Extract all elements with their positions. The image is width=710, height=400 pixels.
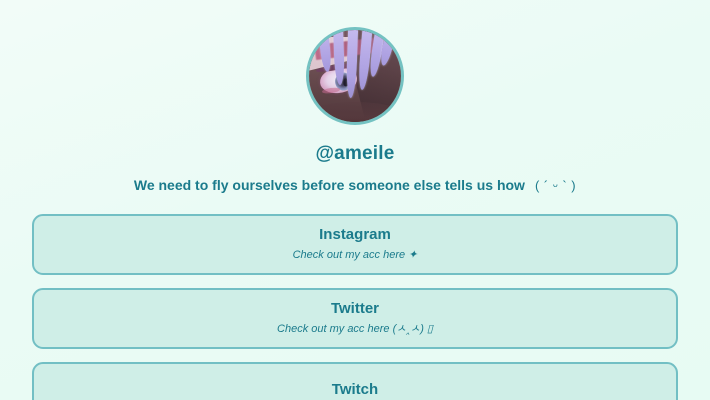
link-subtitle: Check out my acc here ✦ bbox=[293, 249, 418, 262]
profile-username: @ameile bbox=[315, 143, 394, 165]
linktree-profile-page: @ameile We need to fly ourselves before … bbox=[0, 0, 710, 400]
link-subtitle: Check out my acc here (ㅅ‸ㅅ) ▯ bbox=[277, 323, 433, 336]
link-card-twitch[interactable]: Twitch bbox=[32, 362, 678, 400]
link-list: Instagram Check out my acc here ✦ Twitte… bbox=[32, 214, 678, 400]
link-title: Instagram bbox=[319, 226, 391, 244]
link-card-twitter[interactable]: Twitter Check out my acc here (ㅅ‸ㅅ) ▯ bbox=[32, 288, 678, 349]
avatar-color-tint bbox=[309, 30, 401, 122]
avatar-image bbox=[309, 30, 401, 122]
profile-bio-text: We need to fly ourselves before someone … bbox=[134, 177, 525, 193]
link-card-instagram[interactable]: Instagram Check out my acc here ✦ bbox=[32, 214, 678, 275]
avatar bbox=[306, 27, 404, 125]
profile-bio-kaomoji: ( ´ ᵕ ` ) bbox=[535, 178, 576, 193]
link-title: Twitch bbox=[332, 381, 378, 399]
link-title: Twitter bbox=[331, 300, 379, 318]
profile-bio: We need to fly ourselves before someone … bbox=[134, 177, 576, 193]
